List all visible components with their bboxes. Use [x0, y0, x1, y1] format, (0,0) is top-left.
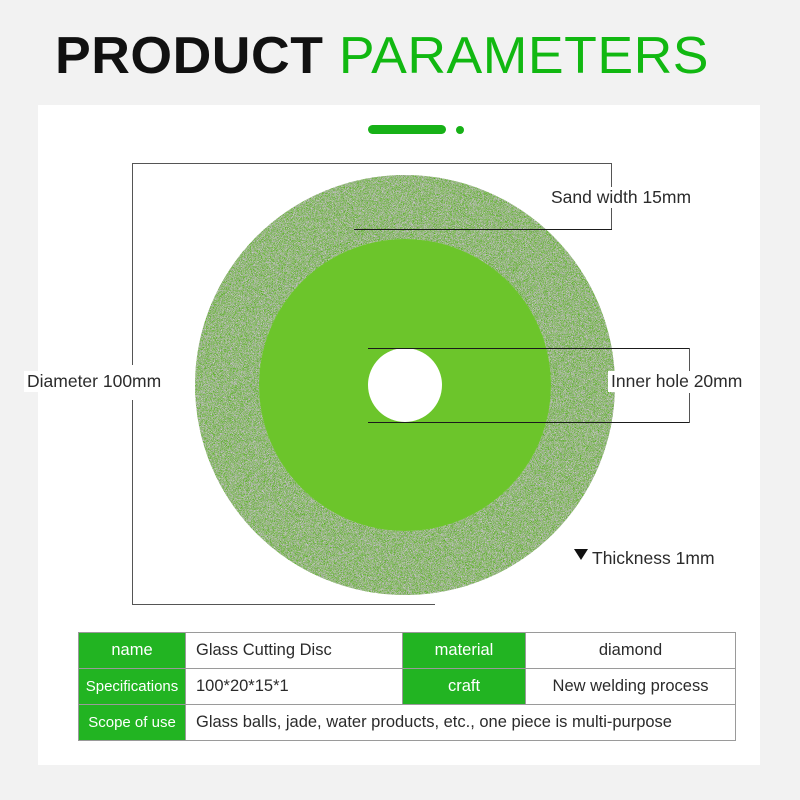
- table-row: name Glass Cutting Disc material diamond: [79, 633, 736, 669]
- callout-sand-width: Sand width 15mm: [548, 187, 694, 208]
- leader-sandwidth-top-horizontal: [132, 163, 612, 164]
- disc-inner-hole: [368, 348, 442, 422]
- page-header: PRODUCT PARAMETERS: [0, 0, 800, 105]
- cell-value-material: diamond: [526, 633, 736, 669]
- leader-innerhole-lower-vertical: [689, 393, 690, 423]
- cell-value-scope-of-use: Glass balls, jade, water products, etc.,…: [186, 705, 736, 741]
- cell-label-specifications: Specifications: [79, 669, 186, 705]
- leader-innerhole-bottom-horizontal: [368, 422, 690, 423]
- cell-label-craft: craft: [403, 669, 526, 705]
- content-card: Sand width 15mm Diameter 100mm Inner hol…: [38, 105, 760, 765]
- thickness-arrow-icon: [574, 549, 588, 560]
- callout-diameter: Diameter 100mm: [24, 371, 164, 392]
- page-title-word-parameters: PARAMETERS: [339, 27, 709, 85]
- leader-diameter-bottom-horizontal: [132, 604, 435, 605]
- page-title: PRODUCT PARAMETERS: [55, 26, 709, 86]
- table-row: Specifications 100*20*15*1 craft New wel…: [79, 669, 736, 705]
- cell-value-name: Glass Cutting Disc: [186, 633, 403, 669]
- page-title-word-product: PRODUCT: [55, 27, 323, 85]
- leader-diameter-upper-vertical: [132, 163, 133, 365]
- leader-diameter-lower-vertical: [132, 400, 133, 605]
- leader-innerhole-top-horizontal: [368, 348, 690, 349]
- product-spec-table: name Glass Cutting Disc material diamond…: [78, 632, 736, 741]
- cell-label-scope-of-use: Scope of use: [79, 705, 186, 741]
- table-row: Scope of use Glass balls, jade, water pr…: [79, 705, 736, 741]
- cell-label-name: name: [79, 633, 186, 669]
- callout-inner-hole: Inner hole 20mm: [608, 371, 745, 392]
- callout-thickness: Thickness 1mm: [589, 548, 718, 569]
- cell-label-material: material: [403, 633, 526, 669]
- leader-sandwidth-bottom-horizontal: [354, 229, 612, 230]
- cell-value-craft: New welding process: [526, 669, 736, 705]
- cell-value-specifications: 100*20*15*1: [186, 669, 403, 705]
